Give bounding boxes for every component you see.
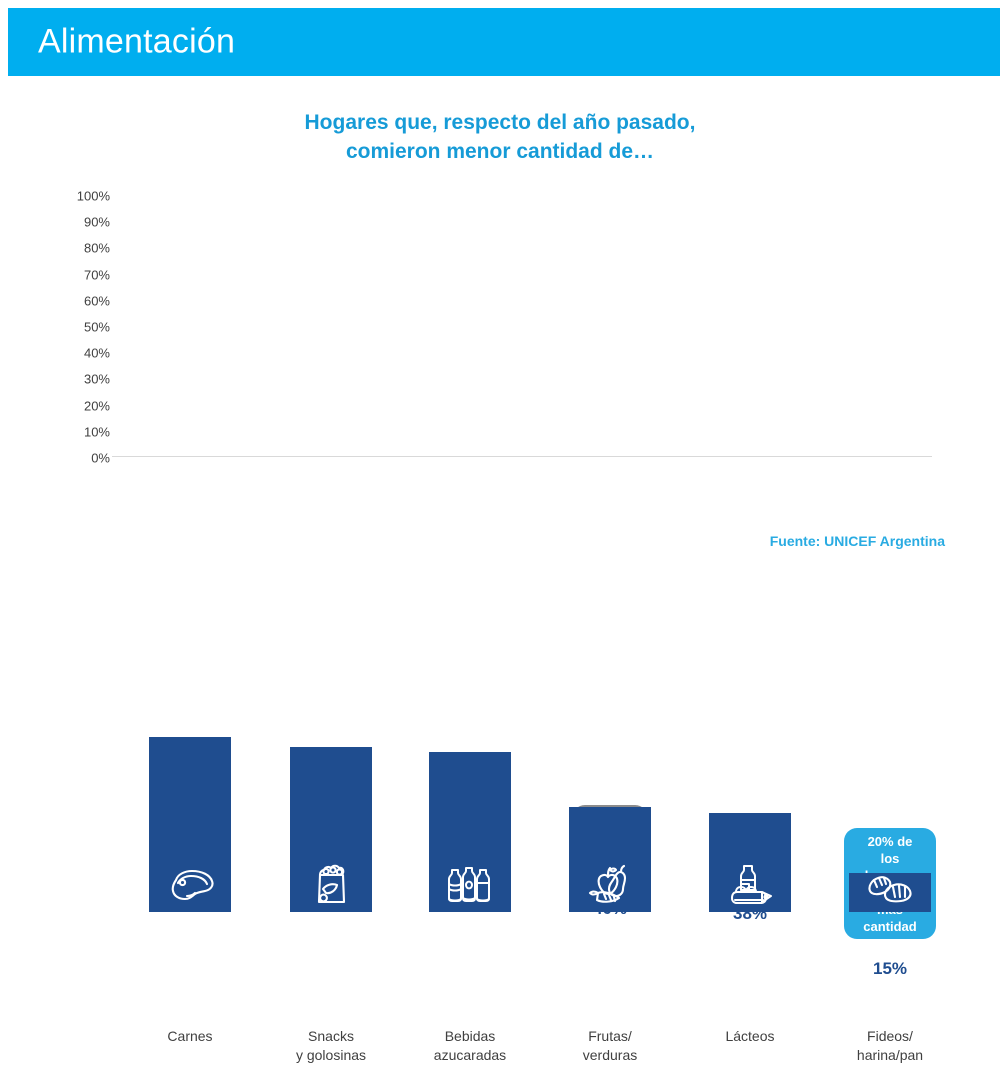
bread-icon <box>861 870 919 906</box>
y-tick-70: 70% <box>52 267 110 282</box>
bar-lacteos[interactable] <box>709 813 791 913</box>
bar-snacks[interactable] <box>290 747 372 912</box>
callout-fideos-line-6: cantidad <box>861 918 920 935</box>
category-label-snacks: Snacks y golosinas <box>256 1027 406 1065</box>
category-label-frutas-line-1: Frutas/ <box>535 1027 685 1046</box>
axis-baseline <box>112 456 932 457</box>
fruits-vegetables-icon <box>581 858 639 906</box>
category-label-carnes-line-1: Carnes <box>115 1027 265 1046</box>
chart-plot-area: 100% 90% 80% 70% 60% 50% 40% 30% 20% 10%… <box>0 0 1000 565</box>
category-label-frutas-line-2: verduras <box>535 1046 685 1065</box>
meat-icon <box>161 858 219 906</box>
soda-bottles-icon <box>441 858 499 906</box>
bar-bebidas[interactable] <box>429 752 511 912</box>
y-tick-10: 10% <box>52 424 110 439</box>
y-tick-60: 60% <box>52 293 110 308</box>
y-tick-50: 50% <box>52 320 110 335</box>
y-tick-30: 30% <box>52 372 110 387</box>
bar-value-fideos: 15% <box>820 959 960 979</box>
category-label-bebidas: Bebidas azucaradas <box>395 1027 545 1065</box>
y-tick-90: 90% <box>52 215 110 230</box>
y-tick-80: 80% <box>52 241 110 256</box>
category-label-fideos-line-2: harina/pan <box>815 1046 965 1065</box>
y-axis: 100% 90% 80% 70% 60% 50% 40% 30% 20% 10%… <box>52 196 110 458</box>
category-label-carnes: Carnes <box>115 1027 265 1046</box>
source-note: Fuente: UNICEF Argentina <box>770 533 945 549</box>
category-label-snacks-line-1: Snacks <box>256 1027 406 1046</box>
category-label-bebidas-line-1: Bebidas <box>395 1027 545 1046</box>
bar-fideos[interactable] <box>849 873 931 912</box>
category-label-lacteos-line-1: Lácteos <box>675 1027 825 1046</box>
bar-carnes[interactable] <box>149 737 231 913</box>
dairy-eggs-icon <box>721 858 779 906</box>
y-tick-100: 100% <box>52 189 110 204</box>
category-label-frutas: Frutas/ verduras <box>535 1027 685 1065</box>
callout-fideos-line-1: 20% de <box>861 833 920 850</box>
category-label-lacteos: Lácteos <box>675 1027 825 1046</box>
slide-root: Alimentación Hogares que, respecto del a… <box>0 0 1000 565</box>
callout-fideos-line-2: los <box>861 850 920 867</box>
category-label-snacks-line-2: y golosinas <box>256 1046 406 1065</box>
snack-bag-icon <box>302 858 360 906</box>
y-tick-0: 0% <box>52 451 110 466</box>
y-tick-20: 20% <box>52 398 110 413</box>
y-tick-40: 40% <box>52 346 110 361</box>
category-label-fideos: Fideos/ harina/pan <box>815 1027 965 1065</box>
bar-frutas[interactable] <box>569 807 651 912</box>
category-label-bebidas-line-2: azucaradas <box>395 1046 545 1065</box>
category-label-fideos-line-1: Fideos/ <box>815 1027 965 1046</box>
